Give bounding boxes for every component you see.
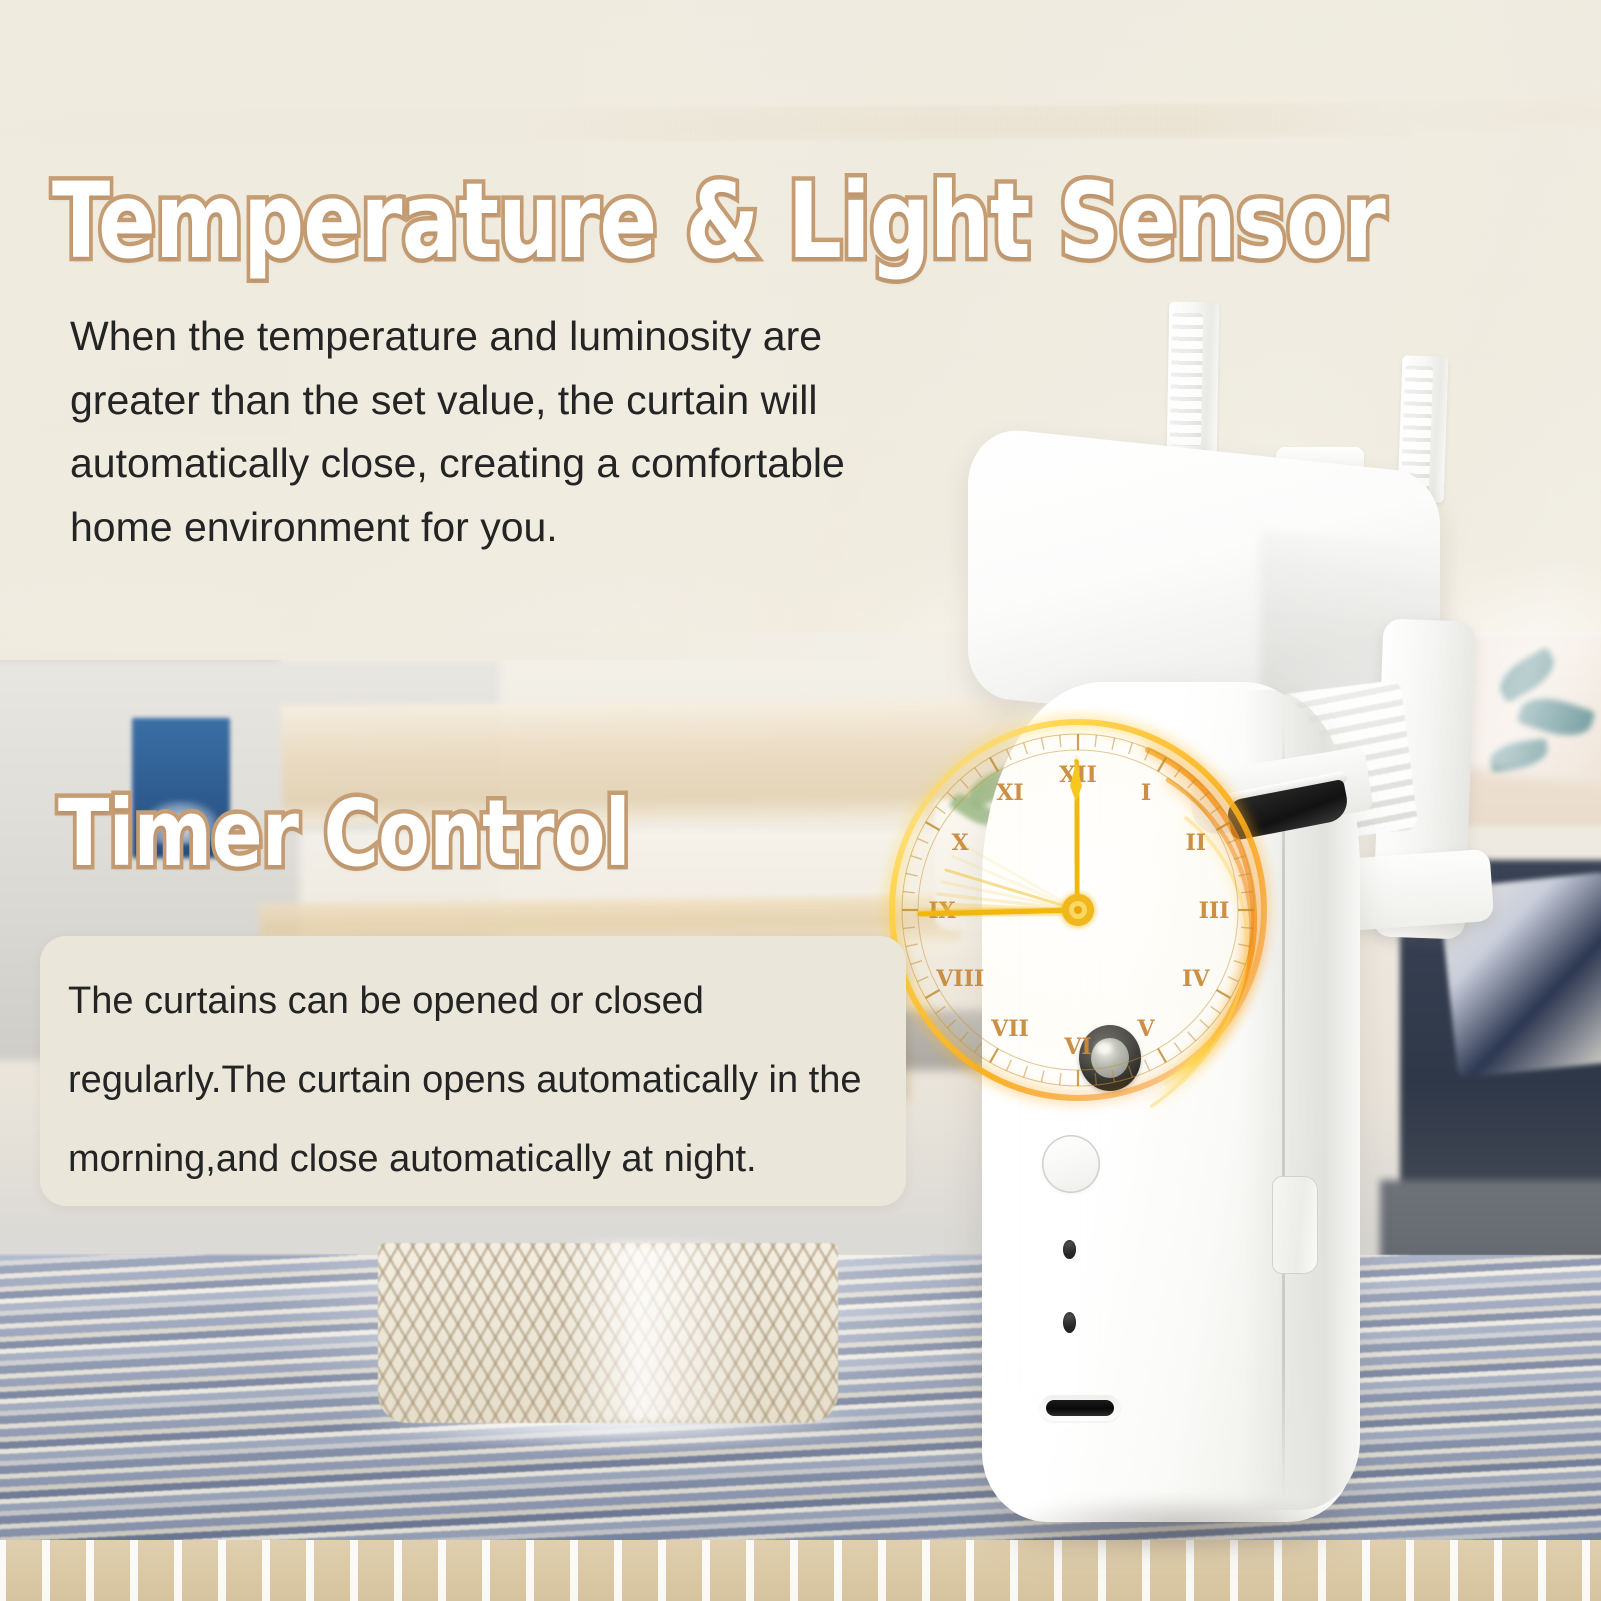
side-release-tab[interactable] [1272, 1176, 1318, 1274]
status-led-upper [1063, 1240, 1076, 1259]
heading-timer-control: Timer Control [58, 780, 630, 887]
power-button[interactable] [1042, 1135, 1100, 1193]
roller-clip-left [1167, 302, 1220, 455]
body-temperature-light-sensor: When the temperature and luminosity are … [70, 305, 950, 559]
clock-numeral: VIII [935, 966, 984, 992]
marketing-image: XIIIIIIIIIVVVIVIIVIIIIXXXI Te [0, 0, 1601, 1601]
heading-temperature-light-sensor: Temperature & Light Sensor [52, 160, 1385, 282]
clock-numeral: III [1199, 898, 1230, 924]
analog-clock-overlay: XIIIIIIIIIVVVIVIIVIIIIXXXI [880, 710, 1280, 1110]
clock-numeral: VI [1063, 1034, 1091, 1060]
clock-numeral: XI [996, 780, 1023, 806]
device-body-seam [1282, 720, 1285, 1500]
usb-c-port-opening [1046, 1400, 1114, 1416]
clock-numeral: V [1136, 1016, 1155, 1042]
clip-ribs [1170, 312, 1203, 446]
clock-numeral: I [1141, 780, 1151, 806]
status-led-lower [1063, 1312, 1076, 1333]
clock-numeral: VII [990, 1016, 1029, 1042]
clock-numeral: IV [1182, 966, 1210, 992]
device-ground-shadow [1000, 1495, 1350, 1555]
basket-highlight [560, 1243, 760, 1423]
clock-numeral: II [1185, 830, 1206, 856]
body-timer-control: The curtains can be opened or closed reg… [68, 962, 886, 1199]
